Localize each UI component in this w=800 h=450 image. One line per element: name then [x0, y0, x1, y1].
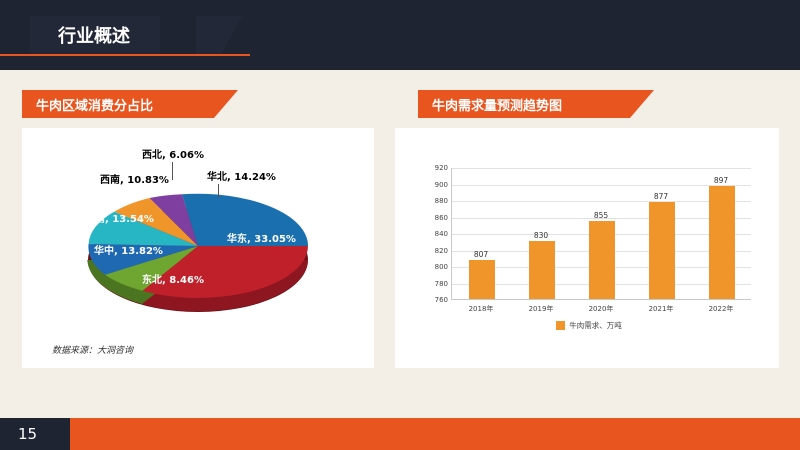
- page-number: 15: [0, 418, 70, 450]
- y-axis-tick: 800: [418, 263, 448, 271]
- y-axis-tick: 880: [418, 197, 448, 205]
- gridline: [452, 168, 751, 169]
- x-axis-tick: 2018年: [453, 304, 509, 314]
- y-axis-tick: 900: [418, 181, 448, 189]
- pie-label-huabei: 华北, 14.24%: [207, 168, 276, 183]
- bar-value-label: 897: [701, 176, 741, 185]
- y-axis-tick: 860: [418, 214, 448, 222]
- bar-chart: 760780800820840860880900920 牛肉需求、万吨 8072…: [415, 168, 763, 316]
- page-title: 行业概述: [30, 16, 160, 54]
- left-chart-title-ribbon: 牛肉区域消费分占比: [22, 90, 214, 118]
- y-axis-tick: 920: [418, 164, 448, 172]
- leader-line-xibei: [172, 162, 173, 180]
- bar-value-label: 855: [581, 211, 621, 220]
- bar-value-label: 830: [521, 231, 561, 240]
- y-axis-tick: 840: [418, 230, 448, 238]
- data-source-note: 数据来源：大洞咨询: [52, 343, 133, 356]
- bar: [649, 202, 675, 299]
- gridline: [452, 201, 751, 202]
- y-axis-tick: 820: [418, 247, 448, 255]
- bar: [709, 186, 735, 299]
- pie-label-xinan: 西南, 10.83%: [100, 174, 150, 187]
- y-axis-tick: 760: [418, 296, 448, 304]
- right-chart-title-ribbon: 牛肉需求量预测趋势图: [418, 90, 630, 118]
- y-axis-tick: 780: [418, 280, 448, 288]
- pie-label-huanan: 华南, 13.54%: [85, 210, 154, 225]
- footer-bar: [0, 418, 800, 450]
- left-chart-title: 牛肉区域消费分占比: [36, 95, 153, 114]
- pie-chart: 华东, 33.05% 东北, 8.46% 华中, 13.82% 华南, 13.5…: [22, 128, 374, 368]
- pie-label-xibei: 西北, 6.06%: [142, 146, 204, 161]
- bar: [589, 221, 615, 299]
- leader-line-huabei: [218, 184, 219, 198]
- right-chart-title: 牛肉需求量预测趋势图: [432, 95, 562, 114]
- pie-chart-svg: [22, 128, 374, 368]
- legend-swatch: [556, 321, 565, 330]
- x-axis-tick: 2021年: [633, 304, 689, 314]
- legend-label: 牛肉需求、万吨: [569, 320, 622, 331]
- bar: [469, 260, 495, 299]
- header-accent-line: [0, 54, 250, 56]
- pie-label-huadong: 华东, 33.05%: [227, 230, 296, 245]
- x-axis-tick: 2022年: [693, 304, 749, 314]
- bar-value-label: 877: [641, 192, 681, 201]
- bar: [529, 241, 555, 299]
- ribbon-tail-left: [214, 90, 238, 118]
- pie-label-dongbei: 东北, 8.46%: [142, 271, 204, 286]
- bar-chart-plot: 760780800820840860880900920: [451, 168, 751, 300]
- bar-chart-legend: 牛肉需求、万吨: [415, 320, 763, 331]
- x-axis-tick: 2019年: [513, 304, 569, 314]
- bar-value-label: 807: [461, 250, 501, 259]
- pie-label-huazhong: 华中, 13.82%: [94, 242, 163, 257]
- x-axis-tick: 2020年: [573, 304, 629, 314]
- ribbon-tail-right: [630, 90, 654, 118]
